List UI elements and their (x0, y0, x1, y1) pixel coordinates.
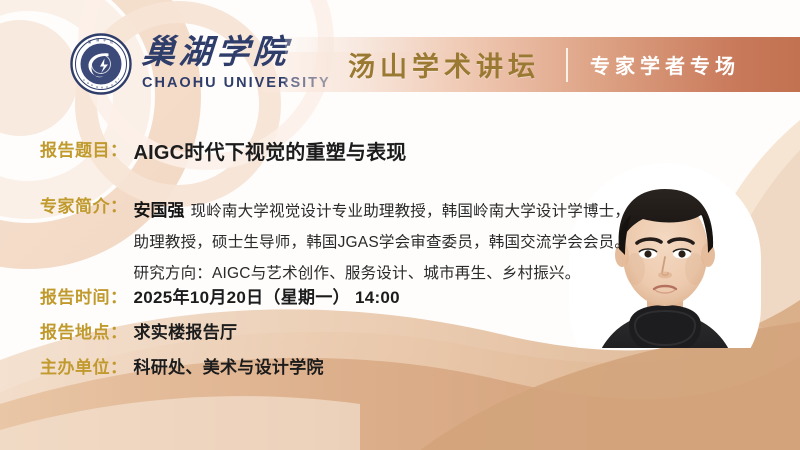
expert-text-2: 助理教授，硕士生导师，韩国JGAS学会审查委员，韩国交流学会会员。 (134, 230, 631, 252)
expert-line-1: 安国强 现岭南大学视觉设计专业助理教授，韩国岭南大学设计学博士， (134, 196, 631, 221)
organizer-value: 科研处、美术与设计学院 (134, 358, 324, 378)
organizer-label: 主办单位： (40, 358, 128, 378)
topic-value: AIGC时代下视觉的重塑与表现 (134, 141, 407, 165)
place-label: 报告地点： (40, 323, 128, 343)
field-expert: 专家简介： 安国强 现岭南大学视觉设计专业助理教授，韩国岭南大学设计学博士， 助… (40, 196, 630, 283)
expert-line-2: 助理教授，硕士生导师，韩国JGAS学会审查委员，韩国交流学会会员。 (134, 230, 631, 252)
field-topic: 报告题目： AIGC时代下视觉的重塑与表现 (40, 141, 407, 165)
expert-text-1: 现岭南大学视觉设计专业助理教授，韩国岭南大学设计学博士， (191, 199, 631, 221)
field-organizer: 主办单位： 科研处、美术与设计学院 (40, 358, 324, 378)
field-time: 报告时间： 2025年10月20日（星期一） 14:00 (40, 288, 400, 308)
time-value: 2025年10月20日（星期一） 14:00 (134, 288, 400, 308)
expert-text-3: 研究方向：AIGC与艺术创作、服务设计、城市再生、乡村振兴。 (134, 261, 581, 283)
expert-name: 安国强 (134, 196, 185, 221)
expert-label: 专家简介： (40, 196, 128, 217)
expert-line-3: 研究方向：AIGC与艺术创作、服务设计、城市再生、乡村振兴。 (134, 261, 631, 283)
time-label: 报告时间： (40, 288, 128, 308)
topic-label: 报告题目： (40, 141, 128, 161)
poster-content: 报告题目： AIGC时代下视觉的重塑与表现 专家简介： 安国强 现岭南大学视觉设… (0, 0, 800, 450)
lecture-poster: 巢湖 学院 CHA OHU UNI 巢湖学院 CHAOHU UNIVERSITY… (0, 0, 800, 450)
place-value: 求实楼报告厅 (134, 323, 238, 343)
field-place: 报告地点： 求实楼报告厅 (40, 323, 237, 343)
expert-body: 安国强 现岭南大学视觉设计专业助理教授，韩国岭南大学设计学博士， 助理教授，硕士… (134, 196, 631, 283)
